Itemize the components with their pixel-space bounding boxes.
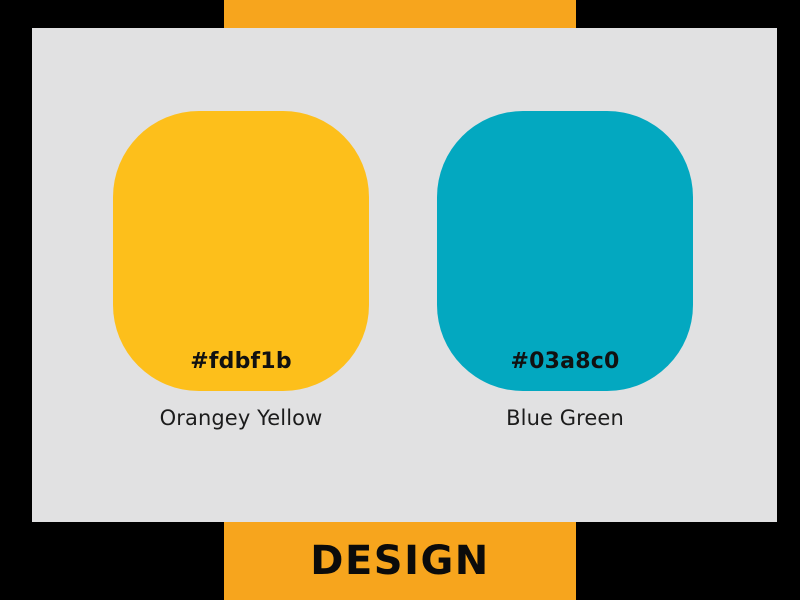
caption-banner: DESIGN: [224, 522, 576, 600]
swatch-name-label: Orangey Yellow: [113, 407, 369, 430]
swatch-hex-label: #fdbf1b: [113, 351, 369, 373]
swatch-hex-label: #03a8c0: [437, 351, 693, 373]
swatch-name-label: Blue Green: [437, 407, 693, 430]
swatch-item[interactable]: #03a8c0 Blue Green: [437, 111, 693, 430]
color-swatch-chip[interactable]: #03a8c0: [437, 111, 693, 391]
swatch-grid: #fdbf1b Orangey Yellow #03a8c0 Blue Gree…: [32, 28, 777, 522]
color-swatch-chip[interactable]: #fdbf1b: [113, 111, 369, 391]
palette-card: #fdbf1b Orangey Yellow #03a8c0 Blue Gree…: [32, 28, 777, 522]
swatch-item[interactable]: #fdbf1b Orangey Yellow: [113, 111, 369, 430]
caption-label: DESIGN: [310, 541, 490, 581]
palette-poster: #fdbf1b Orangey Yellow #03a8c0 Blue Gree…: [0, 0, 800, 600]
